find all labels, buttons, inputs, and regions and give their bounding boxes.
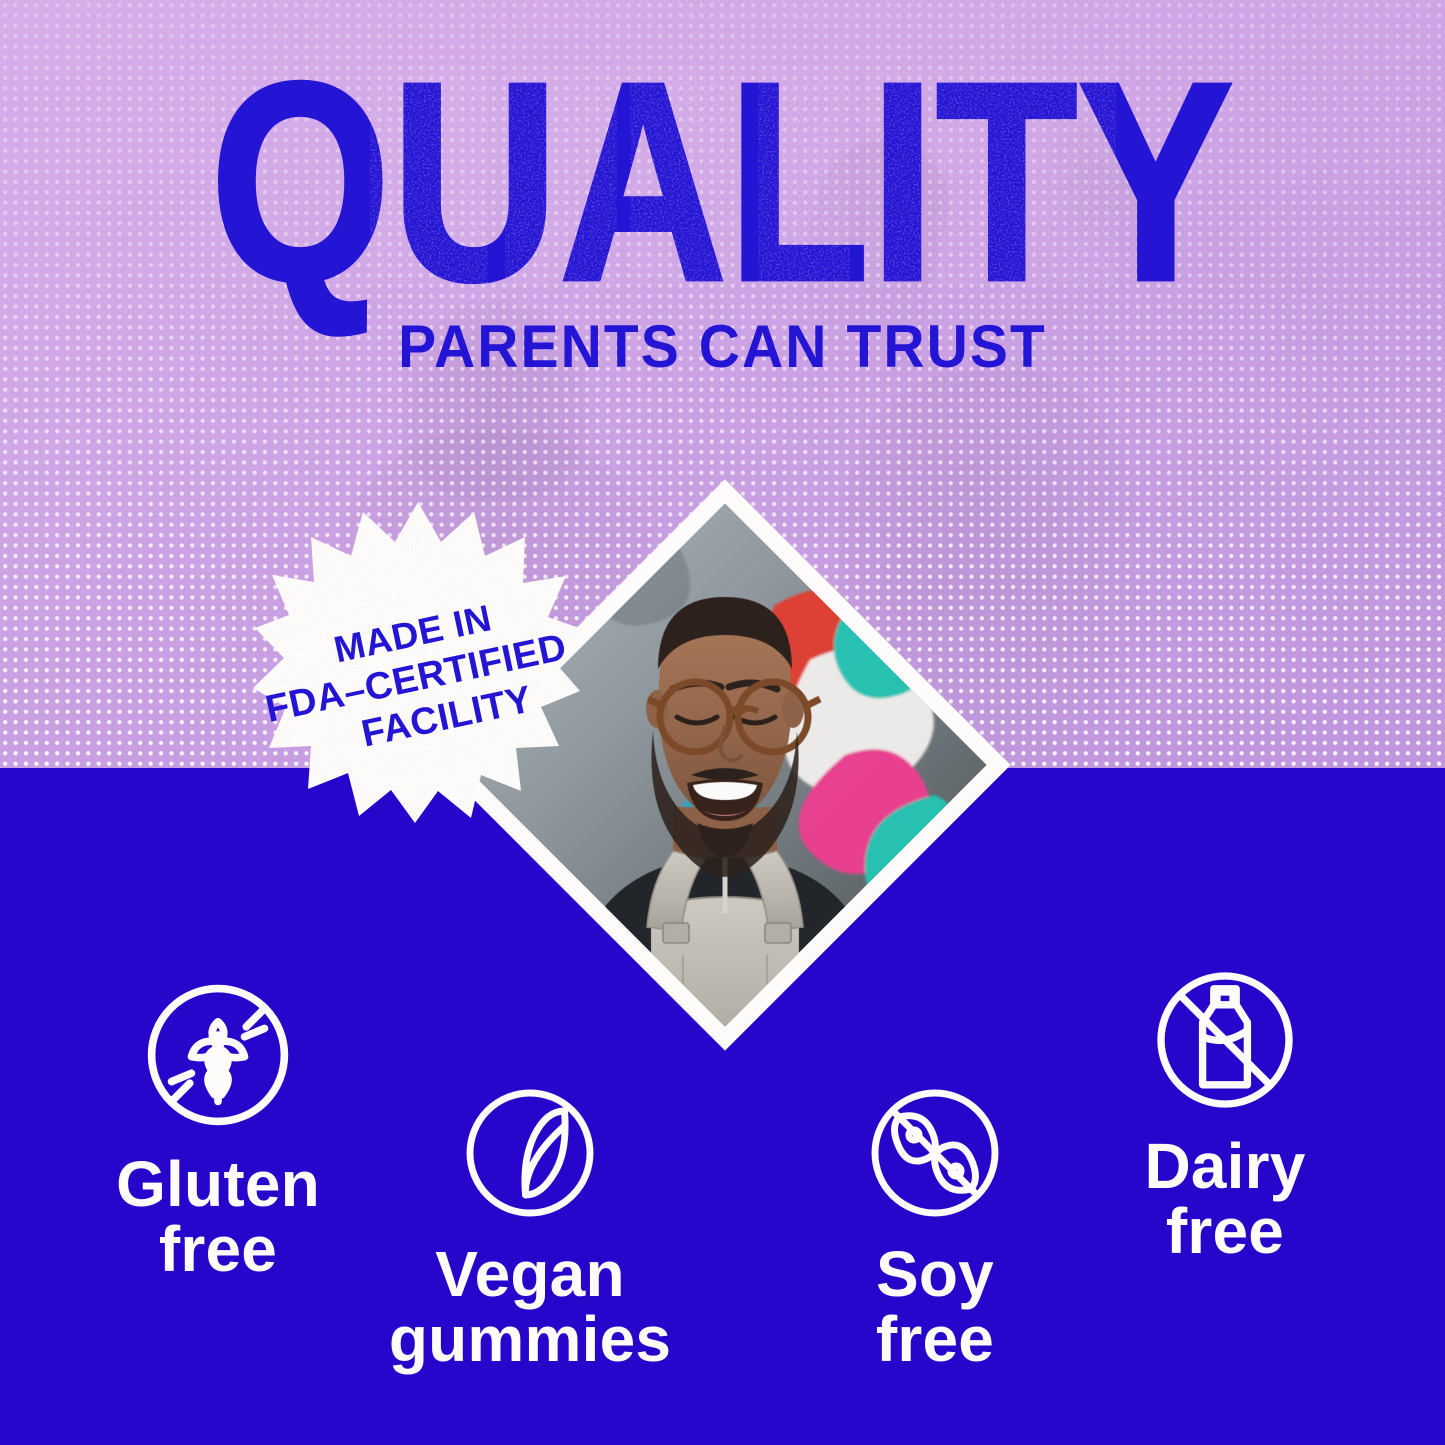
claim-label: Soy free (770, 1242, 1100, 1373)
claim-label: Vegan gummies (360, 1242, 700, 1373)
claim-label-line-2: gummies (360, 1307, 700, 1372)
milk-no-icon (1145, 960, 1305, 1120)
page-title: QUALITY (101, 52, 1344, 311)
claim-gluten-free: Gluten free (48, 972, 388, 1283)
badge-text: MADE IN FDA–CERTIFIED FACILITY (218, 469, 608, 856)
claim-label-line-1: Vegan (435, 1238, 625, 1310)
claim-vegan-gummies: Vegan gummies (360, 1078, 700, 1373)
claim-label-line-2: free (1055, 1199, 1395, 1264)
leaf-icon (455, 1078, 605, 1228)
claim-label-line-1: Dairy (1144, 1130, 1305, 1202)
quality-infographic: QUALITY PAREN (0, 0, 1445, 1445)
fda-certified-badge: MADE IN FDA–CERTIFIED FACILITY (253, 498, 583, 823)
page-subtitle: PARENTS CAN TRUST (36, 312, 1409, 381)
claim-label-line-2: free (48, 1217, 388, 1282)
claim-dairy-free: Dairy free (1055, 960, 1395, 1265)
claim-label-line-2: free (770, 1307, 1100, 1372)
claim-soy-free: Soy free (770, 1078, 1100, 1373)
claim-label: Dairy free (1055, 1134, 1395, 1265)
claim-label-line-1: Soy (876, 1238, 994, 1310)
soybean-no-icon (860, 1078, 1010, 1228)
headline-block: QUALITY (0, 0, 1445, 300)
claim-label-line-1: Gluten (116, 1148, 320, 1220)
claim-label: Gluten free (48, 1152, 388, 1283)
wheat-no-icon (135, 972, 301, 1138)
